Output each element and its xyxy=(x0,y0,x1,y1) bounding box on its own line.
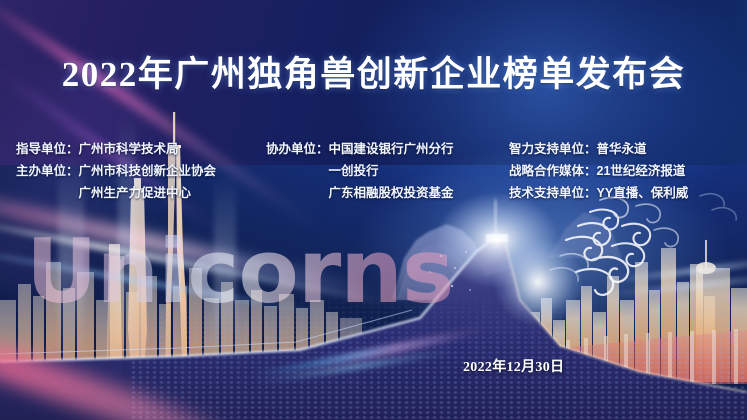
credit-label: 智力支持单位： xyxy=(509,139,597,161)
page-title: 2022年广州独角兽创新企业榜单发布会 xyxy=(0,46,747,97)
credit-value: 普华永道 xyxy=(597,139,647,161)
credit-row: 协办单位： 一创投行 xyxy=(266,161,509,183)
credit-row: 战略合作媒体： 21世纪经济报道 xyxy=(509,161,747,183)
credit-value: 广州市科学技术局 xyxy=(79,139,179,161)
credits-column-coorganizer: 协办单位： 中国建设银行广州分行 协办单位： 一创投行 协办单位： 广东相融股权… xyxy=(266,139,509,204)
credit-value: 广州生产力促进中心 xyxy=(79,183,192,205)
credit-row: 主办单位： 广州市科技创新企业协会 xyxy=(16,161,266,183)
credit-value: 21世纪经济报道 xyxy=(597,161,686,183)
credits-column-guiding: 指导单位： 广州市科学技术局 主办单位： 广州市科技创新企业协会 主办单位： 广… xyxy=(16,139,266,204)
credit-value: 一创投行 xyxy=(329,161,379,183)
credit-row: 协办单位： 广东相融股权投资基金 xyxy=(266,183,509,205)
credit-label: 协办单位： xyxy=(266,139,329,161)
event-date: 2022年12月30日 xyxy=(463,356,564,376)
credit-row: 智力支持单位： 普华永道 xyxy=(509,139,747,161)
credit-label: 主办单位： xyxy=(16,161,79,183)
credit-label: 指导单位： xyxy=(16,139,79,161)
credit-label: 战略合作媒体： xyxy=(509,161,597,183)
credit-value: YY直播、保利威 xyxy=(597,183,689,205)
credit-value: 广东相融股权投资基金 xyxy=(329,183,454,205)
credits-column-support: 智力支持单位： 普华永道 战略合作媒体： 21世纪经济报道 技术支持单位： YY… xyxy=(509,139,747,204)
credits-block: 指导单位： 广州市科学技术局 主办单位： 广州市科技创新企业协会 主办单位： 广… xyxy=(0,139,747,204)
credit-row: 主办单位： 广州生产力促进中心 xyxy=(16,183,266,205)
event-poster-banner: Unicorns 2022年广州独角兽创新企业榜单发布会 指导单位： 广州市科学… xyxy=(0,0,747,420)
credit-value: 广州市科技创新企业协会 xyxy=(79,161,217,183)
credit-label: 技术支持单位： xyxy=(509,183,597,205)
credit-row: 技术支持单位： YY直播、保利威 xyxy=(509,183,747,205)
credit-value: 中国建设银行广州分行 xyxy=(329,139,454,161)
credit-row: 指导单位： 广州市科学技术局 xyxy=(16,139,266,161)
credit-row: 协办单位： 中国建设银行广州分行 xyxy=(266,139,509,161)
